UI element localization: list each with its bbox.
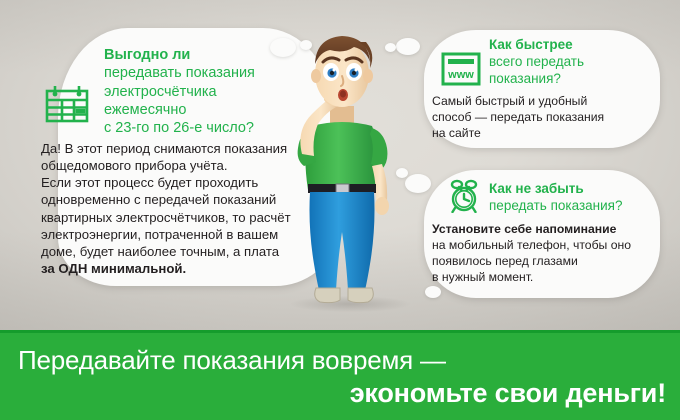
thought-dot <box>405 174 431 193</box>
left-heading-line-bold: Выгодно ли <box>104 47 190 63</box>
banner-headline-line-1: Передавайте показания вовремя — <box>18 345 446 376</box>
left-bubble-body: Да! В этот период снимаются показания об… <box>41 140 309 277</box>
thought-dot <box>396 168 408 178</box>
left-heading-line-5: с 23-го по 26-е число? <box>104 120 254 136</box>
br-heading-line-2: передать показания? <box>489 198 622 213</box>
br-body-line-1: на мобильный телефон, чтобы оно <box>432 238 631 252</box>
tr-body-line-2: способ — передать показания <box>432 110 604 124</box>
footer-banner: Передавайте показания вовремя — экономьт… <box>0 330 680 420</box>
calendar-icon <box>44 84 90 129</box>
tr-body-line-3: на сайте <box>432 126 481 140</box>
left-heading-line-2: передавать показания <box>104 65 255 81</box>
left-body-line-3: Если этот процесс будет проходить <box>41 175 258 190</box>
thought-dot <box>396 38 420 55</box>
left-body-line-4: одновременно с передачей показаний <box>41 192 276 207</box>
svg-text:www: www <box>447 69 474 81</box>
left-body-line-5: квартирных электросчётчиков, то расчёт <box>41 210 291 225</box>
tr-heading-line-3: показания? <box>489 71 561 86</box>
br-body-line-2: появилось перед глазами <box>432 254 578 268</box>
confused-man-illustration <box>272 14 412 309</box>
br-body-line-3: в нужный момент. <box>432 270 533 284</box>
left-heading-line-3: электросчётчика <box>104 84 217 100</box>
thought-dot <box>385 43 396 52</box>
infographic-poster: Выгодно ли передавать показания электрос… <box>0 0 680 420</box>
br-heading-line-bold: Как не забыть <box>489 181 584 196</box>
thought-dot <box>425 286 441 298</box>
bottom-right-bubble-body: Установите себе напоминание на мобильный… <box>432 222 648 285</box>
left-body-line-7: доме, будет наиболее точным, а плата <box>41 244 279 259</box>
tr-heading-line-bold: Как быстрее <box>489 37 573 52</box>
left-body-line-bold: за ОДН минимальной. <box>41 261 186 276</box>
alarm-clock-icon <box>446 179 482 218</box>
tr-body-line-1: Самый быстрый и удобный <box>432 94 587 108</box>
top-right-bubble-heading: Как быстрее всего передать показания? <box>489 36 649 87</box>
br-body-line-bold: Установите себе напоминание <box>432 222 616 236</box>
bottom-right-bubble-heading: Как не забыть передать показания? <box>489 180 659 214</box>
left-body-line-1: Да! В этот период снимаются показания <box>41 141 287 156</box>
tr-heading-line-2: всего передать <box>489 54 584 69</box>
browser-www-icon: www <box>441 52 481 91</box>
left-heading-line-4: ежемесячно <box>104 102 186 118</box>
left-body-line-6: электроэнергии, потраченной в вашем <box>41 227 278 242</box>
top-right-bubble-body: Самый быстрый и удобный способ — передат… <box>432 94 642 142</box>
banner-headline-line-2: экономьте свои деньги! <box>350 378 666 409</box>
left-body-line-2: общедомового прибора учёта. <box>41 158 228 173</box>
